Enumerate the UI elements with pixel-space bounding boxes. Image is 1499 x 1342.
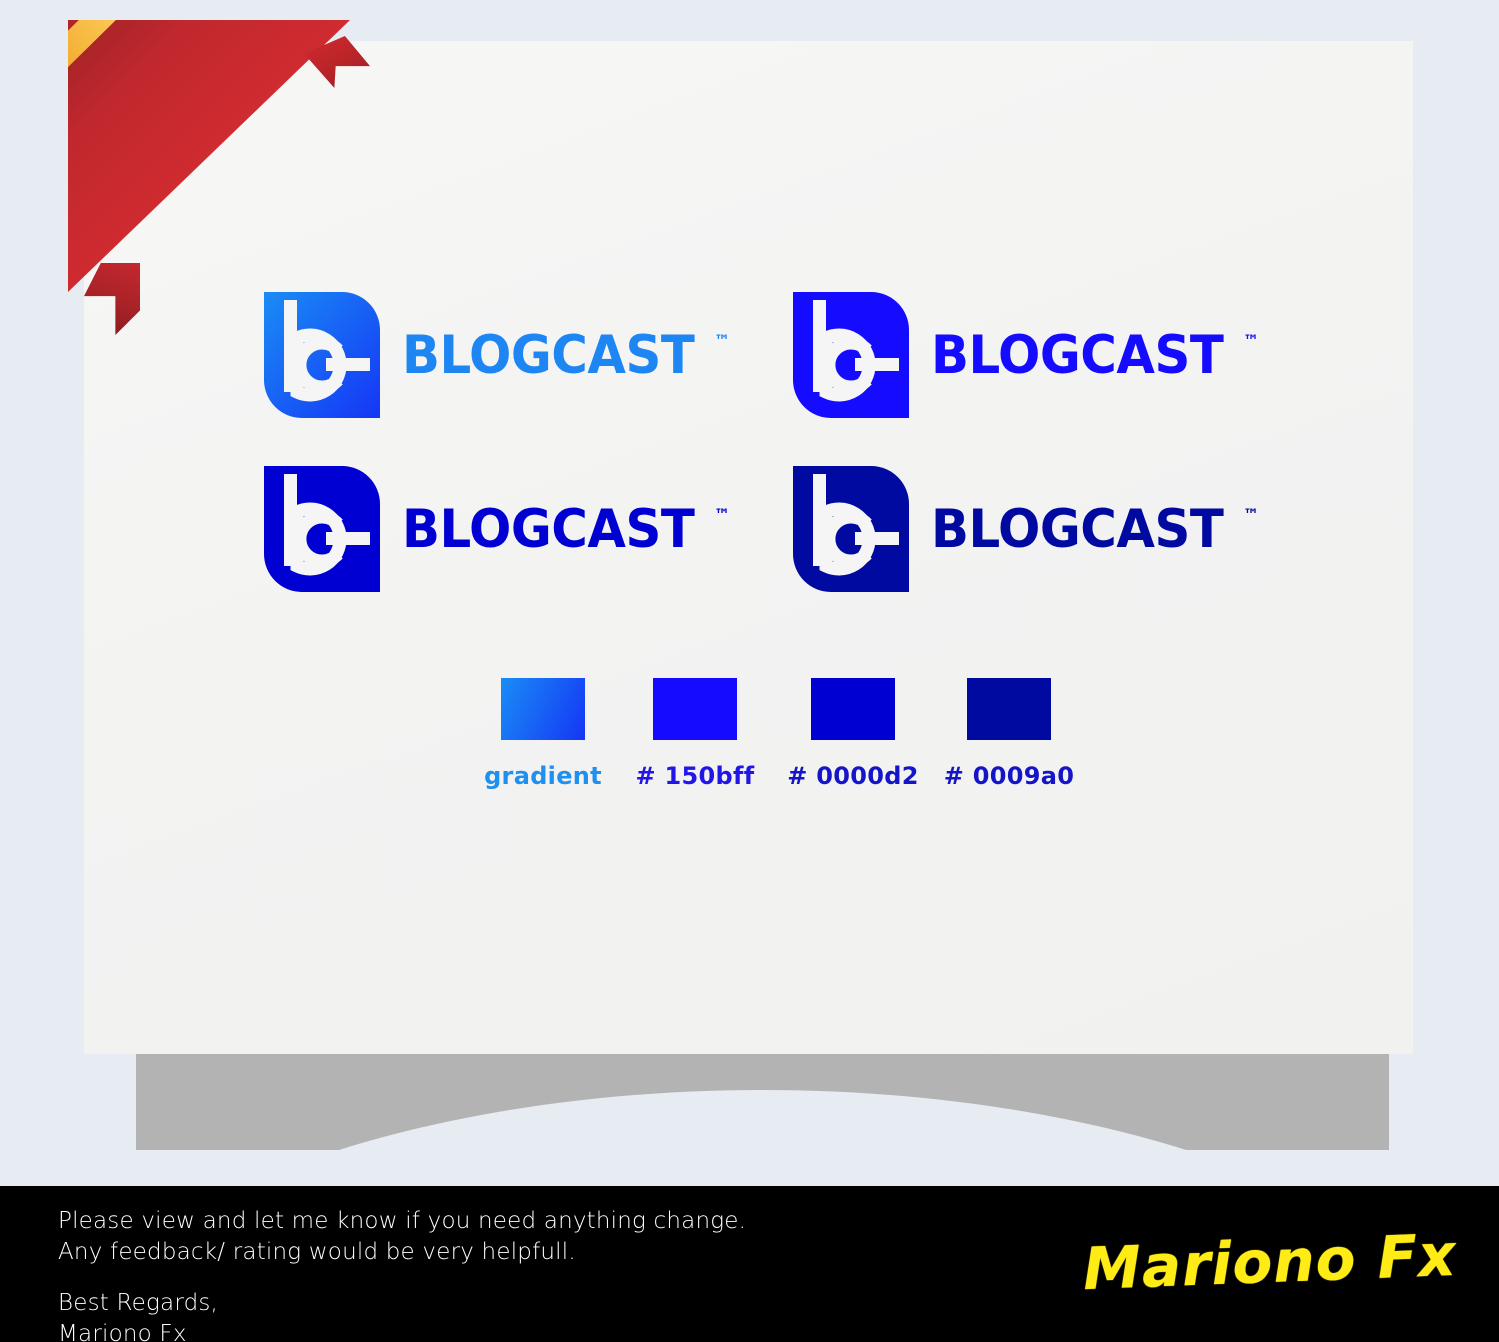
wordmark-wrap: BLOGCAST™ bbox=[931, 503, 1259, 556]
card-shadow bbox=[136, 1054, 1389, 1150]
footer-line-3: Best Regards, bbox=[58, 1290, 218, 1316]
trademark-symbol: ™ bbox=[714, 333, 730, 349]
trademark-symbol: ™ bbox=[714, 507, 730, 523]
wordmark-text: BLOGCAST bbox=[931, 329, 1223, 382]
footer-bar: Please view and let me know if you need … bbox=[0, 1186, 1499, 1342]
logo-lockup-gradient: BLOGCAST™ bbox=[264, 292, 730, 418]
footer-line-1: Please view and let me know if you need … bbox=[58, 1208, 746, 1234]
logo-lockup-150bff: BLOGCAST™ bbox=[793, 292, 1259, 418]
swatch-chip bbox=[811, 678, 895, 740]
wordmark-wrap: BLOGCAST™ bbox=[402, 503, 730, 556]
swatch-label: # 0000d2 bbox=[787, 762, 919, 790]
swatch-chip bbox=[653, 678, 737, 740]
corner-ribbon bbox=[68, 20, 368, 325]
wordmark-text: BLOGCAST bbox=[402, 503, 694, 556]
logo-lockup-0009a0: BLOGCAST™ bbox=[793, 466, 1259, 592]
swatch-column-1: # 150bff bbox=[640, 678, 750, 790]
logo-variant-grid: BLOGCAST™ BLOGCAST™ bbox=[264, 290, 1274, 610]
swatch-column-2: # 0000d2 bbox=[798, 678, 908, 790]
swatch-label: gradient bbox=[484, 762, 602, 790]
trademark-symbol: ™ bbox=[1243, 333, 1259, 349]
swatch-chip bbox=[967, 678, 1051, 740]
swatch-column-3: # 0009a0 bbox=[954, 678, 1064, 790]
swatch-chip bbox=[501, 678, 585, 740]
footer-line-2: Any feedback/ rating would be very helpf… bbox=[58, 1239, 576, 1265]
wordmark-text: BLOGCAST bbox=[402, 329, 694, 382]
logo-mark bbox=[264, 466, 380, 592]
wordmark-text: BLOGCAST bbox=[931, 503, 1223, 556]
trademark-symbol: ™ bbox=[1243, 507, 1259, 523]
designer-message: Please view and let me know if you need … bbox=[58, 1206, 746, 1342]
logo-mark bbox=[264, 292, 380, 418]
logo-mark bbox=[793, 466, 909, 592]
designer-signature: Mariono Fx bbox=[1082, 1221, 1458, 1303]
swatch-label: # 0009a0 bbox=[944, 762, 1075, 790]
color-swatch-row: gradient# 150bff# 0000d2# 0009a0 bbox=[488, 678, 1108, 798]
wordmark-wrap: BLOGCAST™ bbox=[402, 329, 730, 382]
logo-mark bbox=[793, 292, 909, 418]
logo-lockup-0000d2: BLOGCAST™ bbox=[264, 466, 730, 592]
swatch-column-0: gradient bbox=[488, 678, 598, 790]
footer-line-4: Mariono Fx bbox=[58, 1321, 187, 1342]
wordmark-wrap: BLOGCAST™ bbox=[931, 329, 1259, 382]
presentation-canvas: BLOGCAST™ BLOGCAST™ bbox=[0, 0, 1499, 1342]
swatch-label: # 150bff bbox=[635, 762, 754, 790]
